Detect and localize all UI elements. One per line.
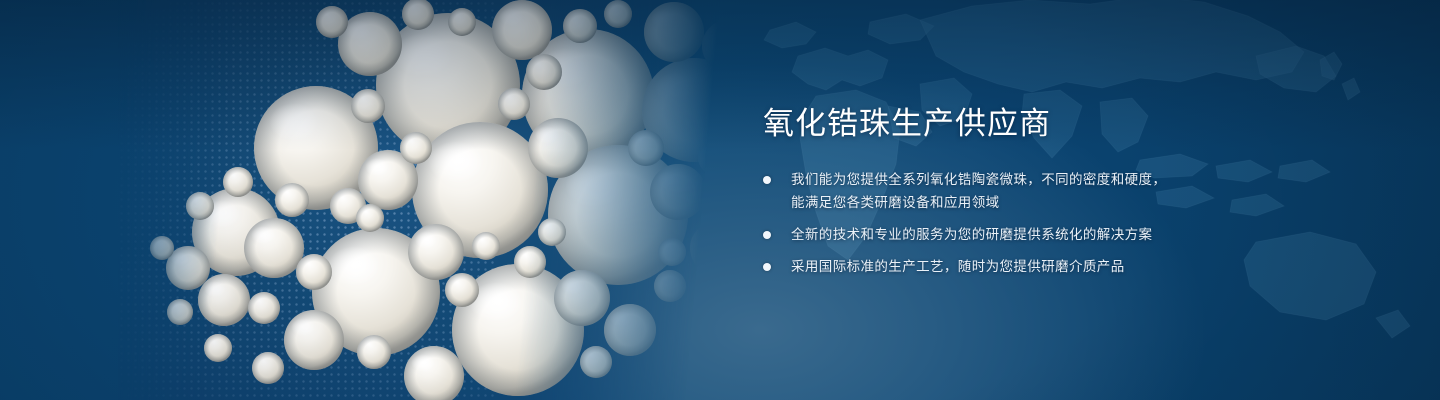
feature-text-line: 能满足您各类研磨设备和应用领域 bbox=[791, 191, 1263, 214]
list-item: 采用国际标准的生产工艺，随时为您提供研磨介质产品 bbox=[763, 255, 1263, 278]
banner-title: 氧化锆珠生产供应商 bbox=[763, 104, 1263, 144]
hero-banner: 氧化锆珠生产供应商 我们能为您提供全系列氧化锆陶瓷微珠，不同的密度和硬度， 能满… bbox=[0, 0, 1440, 400]
banner-copy-block: 氧化锆珠生产供应商 我们能为您提供全系列氧化锆陶瓷微珠，不同的密度和硬度， 能满… bbox=[763, 104, 1263, 278]
list-item: 全新的技术和专业的服务为您的研磨提供系统化的解决方案 bbox=[763, 223, 1263, 246]
feature-text-line: 采用国际标准的生产工艺，随时为您提供研磨介质产品 bbox=[791, 255, 1263, 278]
feature-text-line: 全新的技术和专业的服务为您的研磨提供系统化的解决方案 bbox=[791, 223, 1263, 246]
banner-feature-list: 我们能为您提供全系列氧化锆陶瓷微珠，不同的密度和硬度， 能满足您各类研磨设备和应… bbox=[763, 168, 1263, 278]
list-item: 我们能为您提供全系列氧化锆陶瓷微珠，不同的密度和硬度， 能满足您各类研磨设备和应… bbox=[763, 168, 1263, 214]
bullet-dot-icon bbox=[763, 263, 771, 271]
bullet-dot-icon bbox=[763, 231, 771, 239]
bullet-dot-icon bbox=[763, 176, 771, 184]
feature-text-line: 我们能为您提供全系列氧化锆陶瓷微珠，不同的密度和硬度， bbox=[791, 168, 1263, 191]
